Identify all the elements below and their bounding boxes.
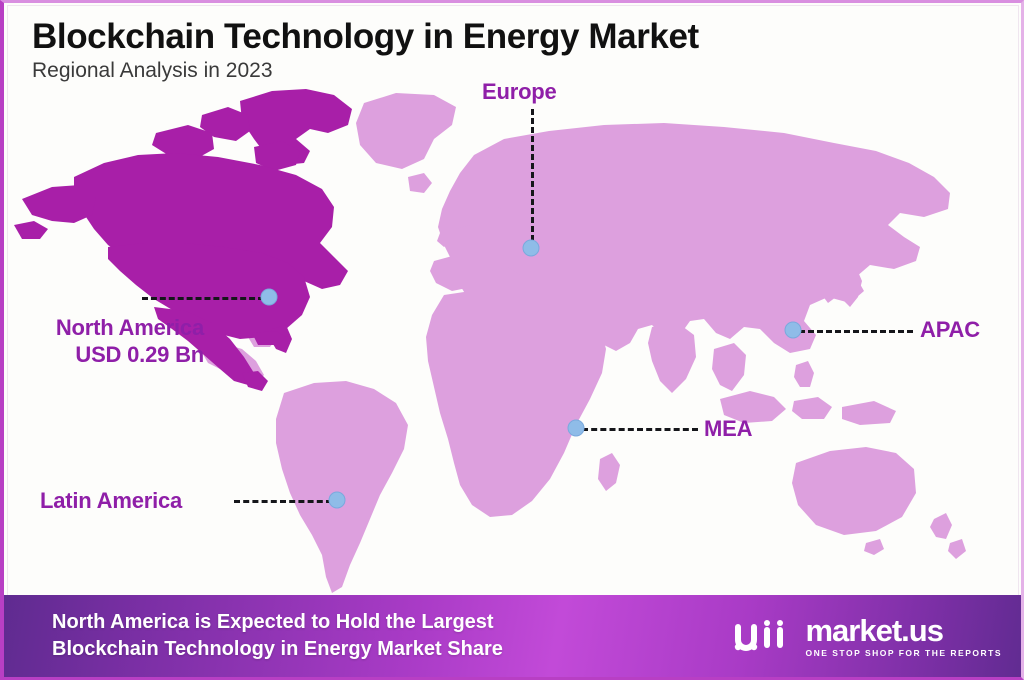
market-us-logo-icon (729, 616, 795, 656)
leader-line-latin-america (234, 500, 332, 503)
region-value-north-america: USD 0.29 Bn (12, 342, 204, 369)
logo-dot-top-2 (777, 620, 783, 626)
marker-mea[interactable] (568, 420, 585, 437)
bottom-banner: North America is Expected to Hold the La… (4, 595, 1024, 677)
logo-dot-left (735, 644, 741, 650)
region-label-north-america: North America USD 0.29 Bn (12, 315, 204, 369)
logo-dot-right (751, 644, 757, 650)
marker-latin-america[interactable] (329, 492, 346, 509)
marker-apac[interactable] (785, 322, 802, 339)
banner-headline-line2: Blockchain Technology in Energy Market S… (52, 636, 503, 663)
infographic-poster: Blockchain Technology in Energy Market R… (0, 0, 1024, 680)
region-label-latin-america: Latin America (40, 488, 182, 515)
region-label-latin-america-text: Latin America (40, 488, 182, 513)
region-label-mea-text: MEA (704, 416, 752, 441)
marker-north-america[interactable] (261, 289, 278, 306)
leader-line-north-america (142, 297, 264, 300)
region-label-europe-text: Europe (482, 79, 557, 104)
region-label-north-america-text: North America (56, 315, 204, 340)
region-label-europe: Europe (482, 79, 557, 106)
header: Blockchain Technology in Energy Market R… (32, 17, 932, 83)
region-label-mea: MEA (704, 416, 752, 443)
logo-tagline: ONE STOP SHOP FOR THE REPORTS (805, 649, 1002, 658)
logo-text-block: market.us ONE STOP SHOP FOR THE REPORTS (805, 615, 1002, 658)
leader-line-europe (531, 109, 534, 241)
leader-line-apac (799, 330, 913, 333)
region-label-apac-text: APAC (920, 317, 980, 342)
page-title: Blockchain Technology in Energy Market (32, 17, 932, 56)
region-label-apac: APAC (920, 317, 980, 344)
map-base-regions (200, 93, 966, 593)
banner-headline: North America is Expected to Hold the La… (52, 609, 503, 663)
logo-wordmark: market.us (805, 615, 1002, 646)
marker-europe[interactable] (523, 240, 540, 257)
market-us-logo[interactable]: market.us ONE STOP SHOP FOR THE REPORTS (729, 615, 1002, 658)
logo-dot-top-1 (764, 620, 770, 626)
leader-line-mea (582, 428, 698, 431)
banner-headline-line1: North America is Expected to Hold the La… (52, 609, 503, 636)
